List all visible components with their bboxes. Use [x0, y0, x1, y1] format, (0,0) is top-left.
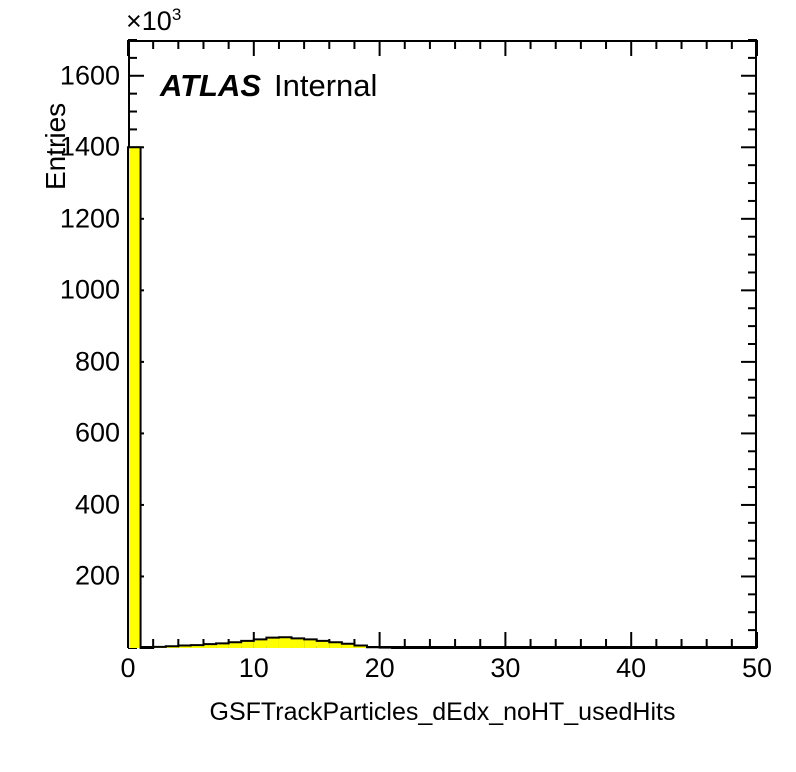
x-axis-tick-label: 0: [120, 655, 135, 682]
x-axis-tick-label: 20: [365, 655, 395, 682]
x-axis-tick-label: 40: [616, 655, 646, 682]
atlas-watermark: ATLASInternal: [160, 68, 377, 104]
x-axis-tick-label: 30: [490, 655, 520, 682]
x-axis-title: GSFTrackParticles_dEdx_noHT_usedHits: [128, 698, 757, 727]
root-canvas: ×103 Entries 200400600800100012001400160…: [0, 0, 796, 772]
x-axis-tick-label: 10: [239, 655, 269, 682]
atlas-label: ATLAS: [160, 68, 261, 103]
x-axis-tick-label: 50: [742, 655, 772, 682]
atlas-status-label: Internal: [261, 68, 377, 103]
x-axis-tick-labels: 01020304050: [0, 0, 796, 772]
